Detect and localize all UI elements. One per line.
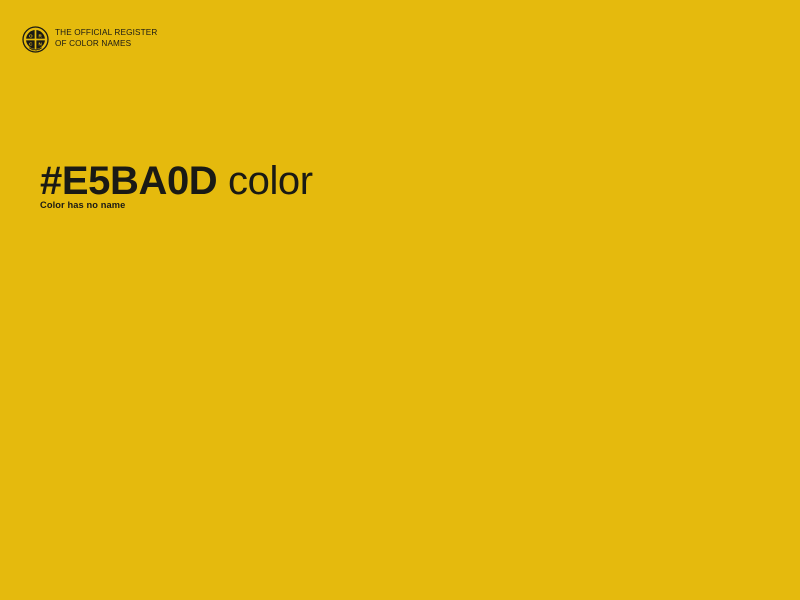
- color-name-status: Color has no name: [40, 199, 125, 212]
- brand-lockup[interactable]: O R C N THE OFFICIAL REGISTER OF COLOR N…: [22, 26, 157, 53]
- title-suffix: color: [217, 159, 312, 203]
- hex-code-value: #E5BA0D: [40, 159, 217, 203]
- color-detail-page: O R C N THE OFFICIAL REGISTER OF COLOR N…: [0, 0, 800, 600]
- register-seal-icon: O R C N: [22, 26, 49, 53]
- svg-text:O: O: [29, 33, 33, 38]
- brand-line-2: OF COLOR NAMES: [55, 38, 157, 49]
- brand-line-1: THE OFFICIAL REGISTER: [55, 27, 157, 38]
- page-title: #E5BA0D color: [40, 158, 313, 204]
- brand-wordmark: THE OFFICIAL REGISTER OF COLOR NAMES: [55, 27, 157, 49]
